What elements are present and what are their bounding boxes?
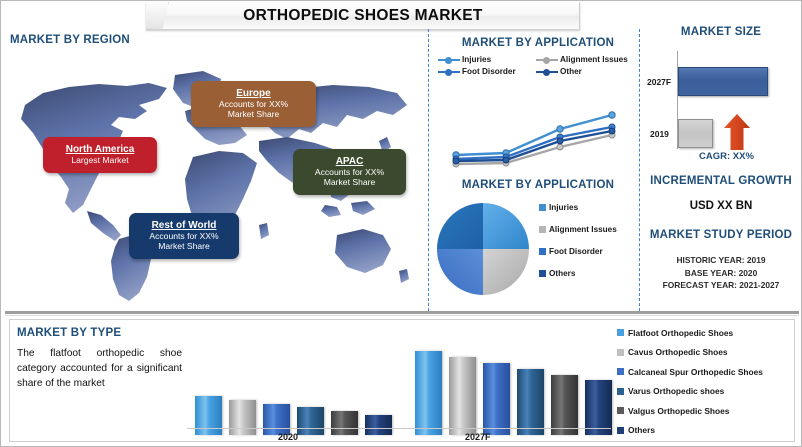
- pie-legend-label-injuries: Injuries: [549, 203, 578, 212]
- type-legend-label-varus: Varus Orthopedic shoes: [628, 386, 724, 396]
- swatch-icon: [617, 349, 624, 356]
- swatch-icon: [617, 407, 624, 414]
- market-by-type-title: MARKET BY TYPE: [17, 327, 121, 339]
- line-marker-icon: [536, 56, 558, 64]
- bar-2020-calcaneal: [263, 404, 290, 435]
- vertical-divider-left: [428, 29, 429, 311]
- market-by-type-description: The flatfoot orthopedic shoe category ac…: [17, 347, 182, 391]
- swatch-icon: [617, 388, 624, 395]
- pie-slice-others: [437, 203, 483, 249]
- legend-label-foot-disorder: Foot Disorder: [462, 67, 516, 76]
- bar-2020-flatfoot: [195, 396, 222, 435]
- legend-item-foot-disorder: Foot Disorder: [438, 67, 536, 76]
- callout-europe-name: Europe: [236, 88, 270, 100]
- callout-apac: APAC Accounts for XX% Market Share: [293, 149, 406, 195]
- cagr-up-arrow-icon: [724, 114, 750, 150]
- type-legend-label-others: Others: [628, 425, 655, 435]
- market-by-type-axis: [187, 428, 611, 429]
- callout-rest-of-world: Rest of World Accounts for XX% Market Sh…: [129, 213, 239, 259]
- market-study-period-lines: HISTORIC YEAR: 2019 BASE YEAR: 2020 FORE…: [641, 254, 801, 292]
- pie-legend-item-alignment-issues: Alignment Issues: [539, 225, 635, 234]
- bar-2027f-flatfoot: [415, 351, 442, 435]
- pie-slice-alignment-issues: [483, 249, 529, 295]
- study-period-base-year: BASE YEAR: 2020: [641, 267, 801, 280]
- line-series-group: [456, 115, 612, 164]
- callout-north-america-name: North America: [66, 144, 135, 156]
- pie-slices: [437, 203, 529, 295]
- type-legend-label-calcaneal: Calcaneal Spur Orthopedic Shoes: [628, 367, 763, 377]
- bar-2027f-valgus: [551, 375, 578, 435]
- type-legend-item-valgus: Valgus Orthopedic Shoes: [617, 401, 797, 421]
- swatch-icon: [539, 270, 546, 277]
- bar-group-label-2020: 2020: [278, 432, 298, 442]
- incremental-growth-value: USD XX BN: [641, 200, 801, 212]
- pie-legend-label-alignment-issues: Alignment Issues: [549, 225, 617, 234]
- application-line-legend: Injuries Alignment Issues Foot Disorder …: [438, 55, 634, 79]
- pie-slice-foot-disorder: [437, 249, 483, 295]
- callout-north-america-line1: Largest Market: [71, 156, 128, 166]
- callout-rest-of-world-line2: Market Share: [158, 242, 210, 252]
- swatch-icon: [617, 368, 624, 375]
- market-size-bar-2027f: [678, 67, 768, 96]
- application-pie-chart: [435, 201, 531, 297]
- application-line-title: MARKET BY APPLICATION: [448, 37, 628, 49]
- swatch-icon: [539, 248, 546, 255]
- type-legend-item-varus: Varus Orthopedic shoes: [617, 382, 797, 402]
- bar-2020-varus: [297, 407, 324, 435]
- type-legend-item-others: Others: [617, 421, 797, 441]
- pie-legend-label-others: Others: [549, 269, 575, 278]
- legend-item-alignment-issues: Alignment Issues: [536, 55, 634, 64]
- legend-label-injuries: Injuries: [462, 55, 491, 64]
- type-legend-label-valgus: Valgus Orthopedic Shoes: [628, 406, 729, 416]
- bar-2020-valgus: [331, 411, 358, 435]
- legend-label-other: Other: [560, 67, 582, 76]
- market-study-period-title: MARKET STUDY PERIOD: [641, 229, 801, 241]
- callout-apac-line2: Market Share: [324, 178, 376, 188]
- legend-item-other: Other: [536, 67, 634, 76]
- infographic-page: ORTHOPEDIC SHOES MARKET MARKET BY REGION: [0, 0, 802, 447]
- application-pie-legend: Injuries Alignment Issues Foot Disorder …: [539, 203, 635, 291]
- bar-2020-cavus: [229, 400, 256, 435]
- swatch-icon: [617, 329, 624, 336]
- bar-2027f-cavus: [449, 357, 476, 435]
- application-pie-title: MARKET BY APPLICATION: [448, 179, 628, 191]
- market-size-bar-2019: [678, 119, 713, 148]
- market-size-label-2027f: 2027F: [647, 77, 671, 87]
- bar-2027f-calcaneal: [483, 363, 510, 435]
- type-legend-label-cavus: Cavus Orthopedic Shoes: [628, 347, 728, 357]
- type-legend-item-cavus: Cavus Orthopedic Shoes: [617, 343, 797, 363]
- page-title: ORTHOPEDIC SHOES MARKET: [243, 7, 482, 25]
- bar-group-label-2027f: 2027F: [465, 432, 491, 442]
- study-period-forecast-year: FORECAST YEAR: 2021-2027: [641, 279, 801, 292]
- line-marker-icon: [438, 56, 460, 64]
- market-by-type-bar-chart: [187, 331, 611, 435]
- pie-legend-item-foot-disorder: Foot Disorder: [539, 247, 635, 256]
- swatch-icon: [617, 427, 624, 434]
- type-legend-item-calcaneal: Calcaneal Spur Orthopedic Shoes: [617, 362, 797, 382]
- callout-rest-of-world-name: Rest of World: [152, 220, 217, 232]
- bar-2020-others: [365, 415, 392, 435]
- pie-slice-injuries: [483, 203, 529, 249]
- callout-north-america: North America Largest Market: [43, 137, 157, 173]
- pie-legend-item-others: Others: [539, 269, 635, 278]
- horizontal-divider: [5, 311, 799, 314]
- swatch-icon: [539, 204, 546, 211]
- cagr-text: CAGR: XX%: [699, 151, 754, 162]
- line-marker-icon: [438, 68, 460, 76]
- type-legend-item-flatfoot: Flatfoot Orthopedic Shoes: [617, 323, 797, 343]
- bar-2027f-varus: [517, 369, 544, 435]
- callout-europe: Europe Accounts for XX% Market Share: [191, 81, 316, 127]
- vertical-divider-right: [639, 29, 640, 311]
- application-line-chart: [444, 105, 624, 173]
- pie-legend-label-foot-disorder: Foot Disorder: [549, 247, 603, 256]
- line-marker-icon: [536, 68, 558, 76]
- bar-2027f-others: [585, 380, 612, 435]
- swatch-icon: [539, 226, 546, 233]
- title-banner: ORTHOPEDIC SHOES MARKET: [146, 2, 580, 30]
- market-size-title: MARKET SIZE: [641, 26, 801, 38]
- incremental-growth-title: INCREMENTAL GROWTH: [641, 175, 801, 187]
- market-by-type-legend: Flatfoot Orthopedic Shoes Cavus Orthoped…: [617, 323, 797, 440]
- horizontal-divider-shadow: [5, 315, 799, 316]
- type-legend-label-flatfoot: Flatfoot Orthopedic Shoes: [628, 328, 733, 338]
- legend-label-alignment-issues: Alignment Issues: [560, 55, 628, 64]
- region-panel-title: MARKET BY REGION: [10, 34, 130, 46]
- market-size-label-2019: 2019: [650, 129, 669, 139]
- callout-apac-name: APAC: [336, 156, 364, 168]
- legend-item-injuries: Injuries: [438, 55, 536, 64]
- callout-europe-line2: Market Share: [228, 110, 280, 120]
- pie-legend-item-injuries: Injuries: [539, 203, 635, 212]
- study-period-historic-year: HISTORIC YEAR: 2019: [641, 254, 801, 267]
